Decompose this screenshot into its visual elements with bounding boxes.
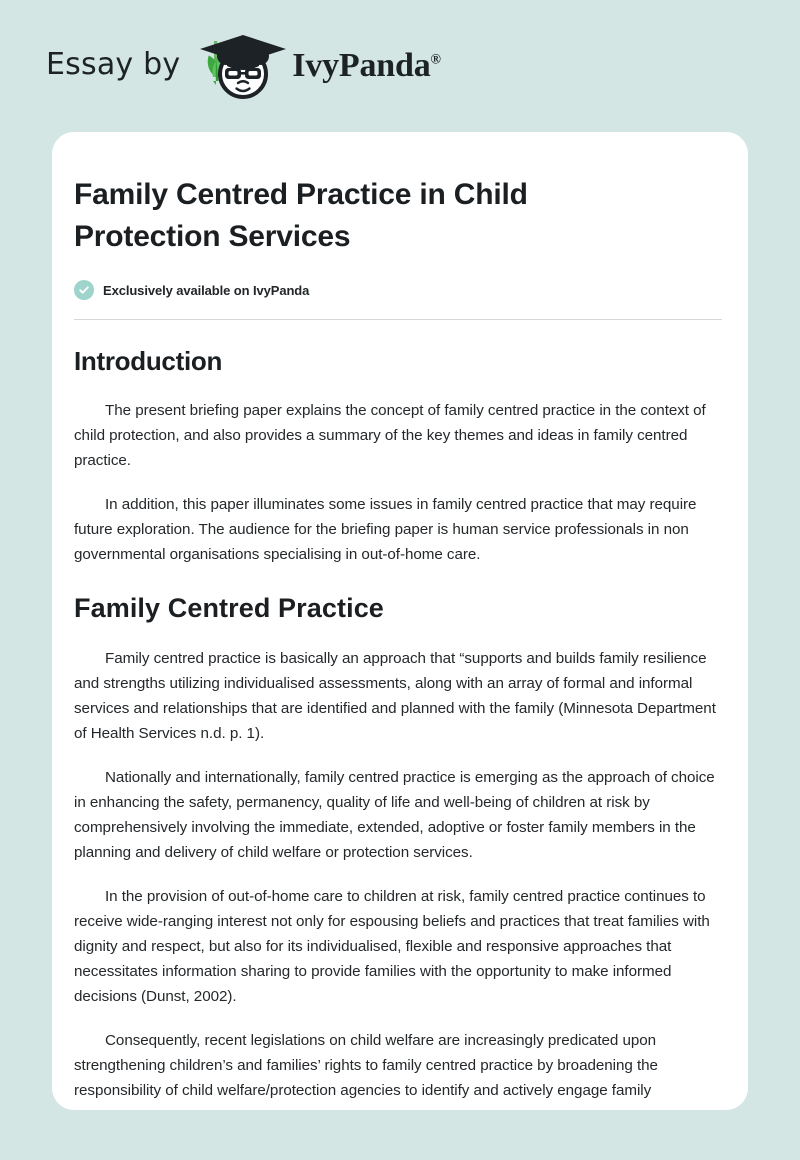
paragraph: Family centred practice is basically an … xyxy=(74,646,722,746)
paragraph: In addition, this paper illuminates some… xyxy=(74,492,722,567)
panda-graduate-logo-icon xyxy=(194,33,290,99)
ivypanda-logo[interactable]: IvyPanda® xyxy=(194,33,440,99)
paragraph: Nationally and internationally, family c… xyxy=(74,765,722,865)
brand-name-text: IvyPanda xyxy=(292,47,430,84)
paragraph: In the provision of out-of-home care to … xyxy=(74,884,722,1009)
brand-header: Essay by xyxy=(0,0,800,132)
check-circle-icon xyxy=(74,280,94,300)
essay-paper-card: Family Centred Practice in Child Protect… xyxy=(52,132,748,1110)
ivypanda-wordmark: IvyPanda® xyxy=(292,49,440,83)
exclusive-availability-badge: Exclusively available on IvyPanda xyxy=(74,280,722,300)
exclusive-availability-label: Exclusively available on IvyPanda xyxy=(103,283,309,298)
paragraph: Consequently, recent legislations on chi… xyxy=(74,1028,722,1103)
paragraph: The present briefing paper explains the … xyxy=(74,398,722,473)
section-heading-family-centred-practice: Family Centred Practice xyxy=(74,593,722,624)
page-title: Family Centred Practice in Child Protect… xyxy=(74,174,634,258)
section-heading-introduction: Introduction xyxy=(74,346,722,376)
essay-by-label: Essay by xyxy=(46,50,180,82)
title-divider xyxy=(74,319,722,320)
registered-mark: ® xyxy=(431,53,441,68)
